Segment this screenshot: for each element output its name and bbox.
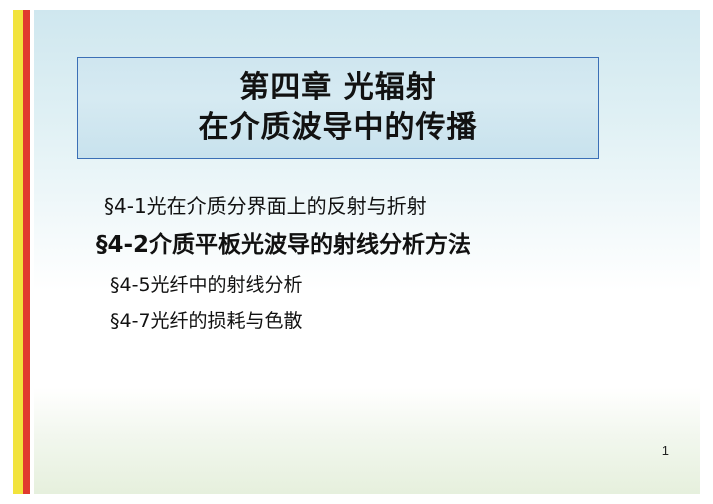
title-line-1: 第四章 光辐射 xyxy=(239,68,436,108)
title-box: 第四章 光辐射 在介质波导中的传播 xyxy=(77,57,599,159)
slide: 第四章 光辐射 在介质波导中的传播 §4-1光在介质分界面上的反射与折射 §4-… xyxy=(0,0,713,504)
left-accent-bar-yellow xyxy=(13,10,23,494)
bullet-item-3: §4-5光纤中的射线分析 xyxy=(110,276,664,295)
left-accent-bar-red xyxy=(23,10,30,494)
bullet-item-4: §4-7光纤的损耗与色散 xyxy=(110,312,664,331)
bullet-list: §4-1光在介质分界面上的反射与折射 §4-2介质平板光波导的射线分析方法 §4… xyxy=(104,196,664,348)
bullet-item-1: §4-1光在介质分界面上的反射与折射 xyxy=(104,196,664,216)
page-number: 1 xyxy=(662,443,669,458)
bullet-item-2: §4-2介质平板光波导的射线分析方法 xyxy=(96,234,664,257)
left-accent-bar-white xyxy=(30,10,34,494)
title-line-2: 在介质波导中的传播 xyxy=(199,108,478,148)
